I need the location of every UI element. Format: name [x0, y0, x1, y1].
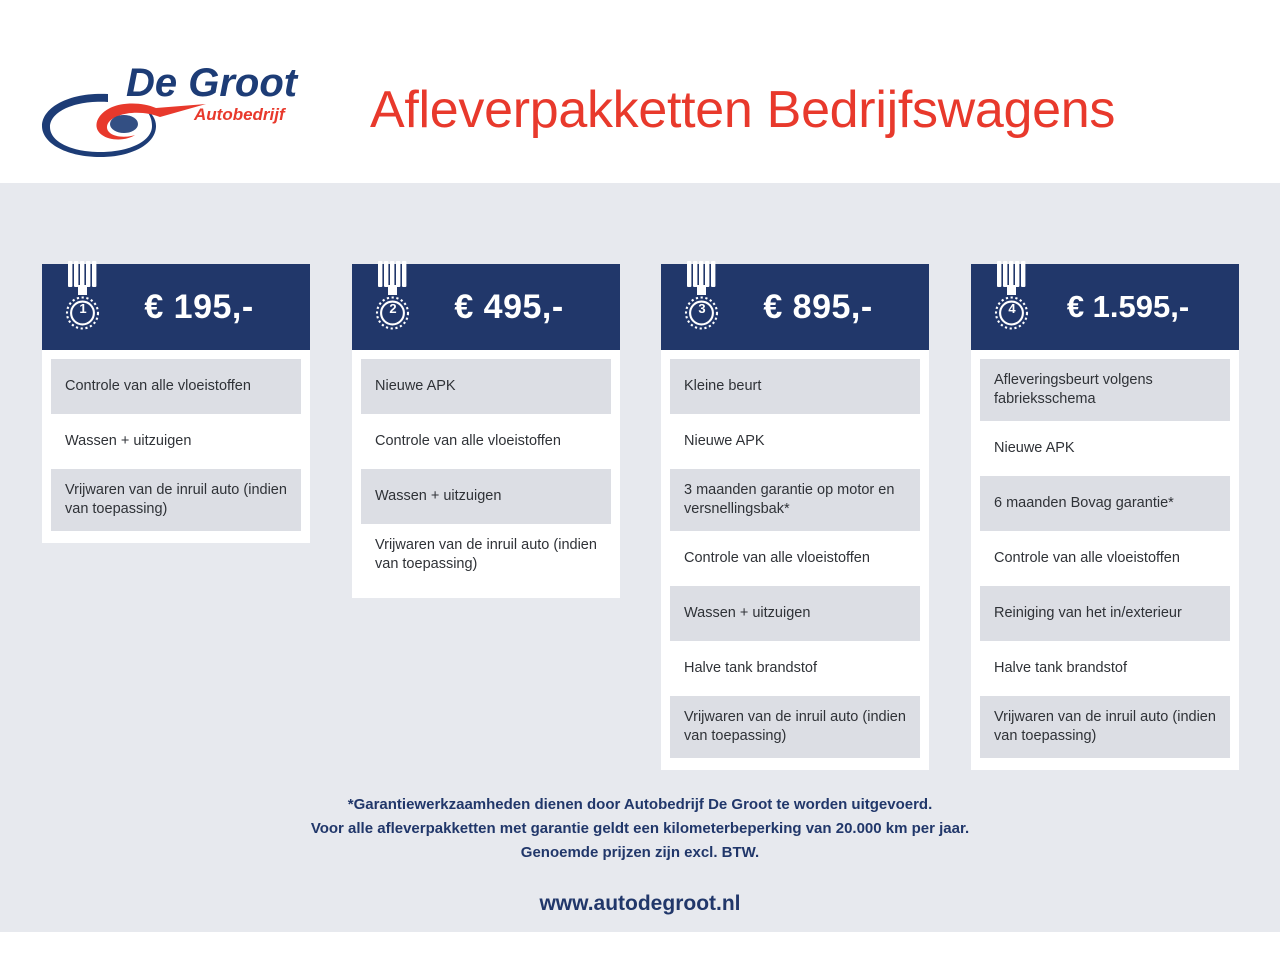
package-feature-item: Vrijwaren van de inruil auto (indien van… [980, 696, 1230, 758]
package-feature-item: Halve tank brandstof [980, 641, 1230, 696]
package-feature-item: Controle van alle vloeistoffen [980, 531, 1230, 586]
package-feature-item: Controle van alle vloeistoffen [670, 531, 920, 586]
package-feature-item: Afleveringsbeurt volgens fabrieksschema [980, 359, 1230, 421]
package-card: 3€ 895,-Kleine beurtNieuwe APK3 maanden … [661, 264, 929, 770]
package-card-header: 4€ 1.595,- [971, 264, 1239, 350]
package-feature-item: Nieuwe APK [670, 414, 920, 469]
footer-line: Voor alle afleverpakketten met garantie … [0, 817, 1280, 841]
medal-icon: 1 [60, 261, 106, 341]
page-title: Afleverpakketten Bedrijfswagens [370, 74, 1115, 146]
package-feature-item: 6 maanden Bovag garantie* [980, 476, 1230, 531]
package-feature-item: Controle van alle vloeistoffen [51, 359, 301, 414]
package-feature-list: Nieuwe APKControle van alle vloeistoffen… [352, 350, 620, 598]
package-feature-item: Vrijwaren van de inruil auto (indien van… [670, 696, 920, 758]
website-url[interactable]: www.autodegroot.nl [0, 891, 1280, 917]
package-card: 4€ 1.595,-Afleveringsbeurt volgens fabri… [971, 264, 1239, 770]
de-groot-logo: De Groot Autobedrijf [38, 62, 300, 160]
medal-icon: 2 [370, 261, 416, 341]
footer: *Garantiewerkzaamheden dienen door Autob… [0, 793, 1280, 917]
medal-icon: 4 [989, 261, 1035, 341]
package-feature-item: Reiniging van het in/exterieur [980, 586, 1230, 641]
package-feature-list: Kleine beurtNieuwe APK3 maanden garantie… [661, 350, 929, 770]
package-card-header: 2€ 495,- [352, 264, 620, 350]
package-feature-list: Afleveringsbeurt volgens fabrieksschemaN… [971, 350, 1239, 770]
package-feature-item: Wassen + uitzuigen [670, 586, 920, 641]
package-card: 1€ 195,-Controle van alle vloeistoffenWa… [42, 264, 310, 543]
package-rank-number: 4 [989, 301, 1035, 317]
package-feature-item: Nieuwe APK [361, 359, 611, 414]
package-rank-number: 3 [679, 301, 725, 317]
footer-line: Genoemde prijzen zijn excl. BTW. [0, 841, 1280, 865]
package-card: 2€ 495,-Nieuwe APKControle van alle vloe… [352, 264, 620, 598]
package-feature-item: Vrijwaren van de inruil auto (indien van… [361, 524, 611, 586]
package-feature-list: Controle van alle vloeistoffenWassen + u… [42, 350, 310, 543]
package-rank-number: 2 [370, 301, 416, 317]
svg-text:Autobedrijf: Autobedrijf [193, 105, 287, 124]
package-rank-number: 1 [60, 301, 106, 317]
package-feature-item: Halve tank brandstof [670, 641, 920, 696]
package-feature-item: Nieuwe APK [980, 421, 1230, 476]
package-feature-item: Wassen + uitzuigen [361, 469, 611, 524]
package-feature-item: Controle van alle vloeistoffen [361, 414, 611, 469]
package-feature-item: Vrijwaren van de inruil auto (indien van… [51, 469, 301, 531]
svg-text:De Groot: De Groot [126, 62, 299, 105]
package-feature-item: Kleine beurt [670, 359, 920, 414]
package-feature-item: Wassen + uitzuigen [51, 414, 301, 469]
package-feature-item: 3 maanden garantie op motor en versnelli… [670, 469, 920, 531]
header-band: De Groot Autobedrijf Afleverpakketten Be… [0, 0, 1280, 183]
package-card-header: 1€ 195,- [42, 264, 310, 350]
package-card-header: 3€ 895,- [661, 264, 929, 350]
poster-page: De Groot Autobedrijf Afleverpakketten Be… [0, 0, 1280, 960]
footer-line: *Garantiewerkzaamheden dienen door Autob… [0, 793, 1280, 817]
medal-icon: 3 [679, 261, 725, 341]
